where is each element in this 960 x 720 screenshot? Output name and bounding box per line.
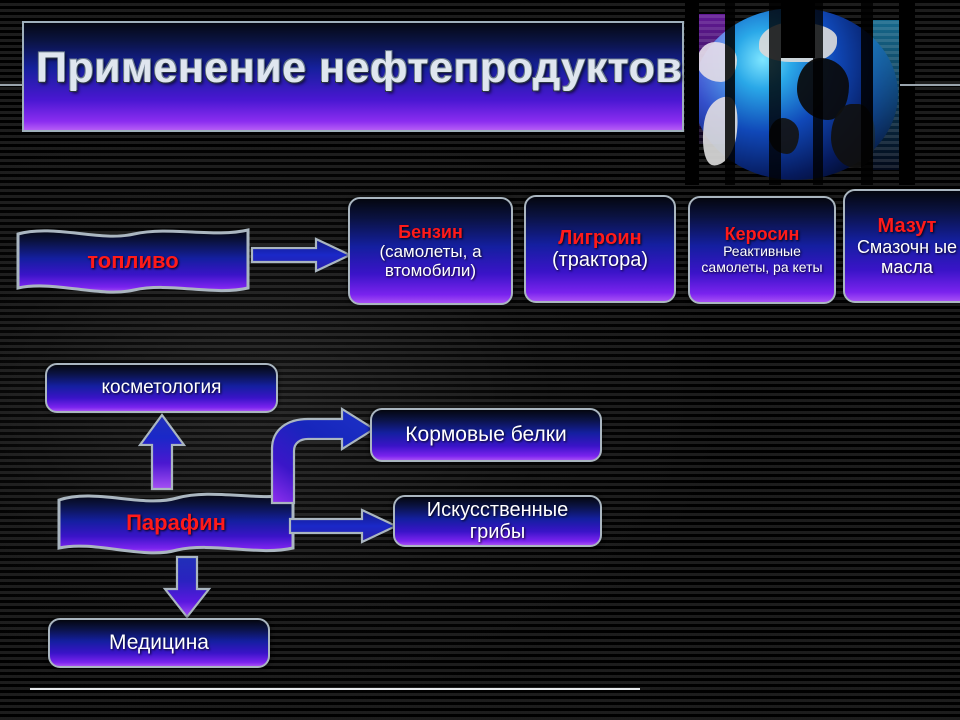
page-title: Применение нефтепродуктов: [36, 44, 676, 93]
node-kerosene[interactable]: Керосин Реактивные самолеты, ра кеты: [688, 196, 836, 304]
globe-slice-mask: [781, 0, 815, 58]
globe-slice: [685, 0, 699, 185]
node-artificial-mushrooms[interactable]: Искусственные грибы: [393, 495, 602, 547]
node-title: Керосин: [725, 224, 800, 244]
node-medicine[interactable]: Медицина: [48, 618, 270, 668]
globe-slice: [899, 0, 915, 185]
node-ligroin[interactable]: Лигроин (трактора): [524, 195, 676, 303]
node-feed-proteins[interactable]: Кормовые белки: [370, 408, 602, 462]
node-cosmetology[interactable]: косметология: [45, 363, 278, 413]
node-fuel-source[interactable]: топливо: [14, 222, 252, 300]
globe-slice: [813, 0, 823, 185]
globe-cyan-tint: [873, 20, 899, 170]
globe-violet-tint: [699, 14, 725, 144]
node-title: Искусственные грибы: [401, 499, 594, 544]
arrow-fuel-to-gasoline: [250, 237, 354, 273]
arrow-paraffin-to-feed-proteins: [266, 407, 378, 505]
globe-slice: [861, 0, 873, 185]
slide-canvas: Применение нефтепродуктов топливо: [0, 0, 960, 720]
node-title: Лигроин: [558, 227, 641, 249]
arrow-paraffin-to-mushrooms: [288, 508, 400, 544]
node-subtitle: (трактора): [552, 249, 648, 271]
node-paraffin-source[interactable]: Парафин: [55, 486, 297, 560]
arrow-paraffin-to-medicine: [160, 555, 214, 619]
node-gasoline[interactable]: Бензин (самолеты, а втомобили): [348, 197, 513, 305]
node-label: топливо: [87, 248, 178, 274]
bottom-rule: [30, 688, 640, 690]
node-label: Парафин: [126, 510, 226, 536]
node-subtitle: Реактивные самолеты, ра кеты: [696, 244, 828, 275]
title-rule-right: [900, 84, 960, 86]
globe-slice: [769, 0, 781, 185]
node-subtitle: Смазочн ые масла: [851, 237, 960, 277]
node-title: Бензин: [398, 222, 463, 242]
globe-image: [685, 0, 915, 185]
node-fuel-oil[interactable]: Мазут Смазочн ые масла: [843, 189, 960, 303]
node-title: Кормовые белки: [405, 423, 566, 447]
globe-slice: [725, 0, 735, 185]
node-title: Медицина: [109, 631, 209, 655]
node-title: косметология: [102, 377, 222, 398]
node-subtitle: (самолеты, а втомобили): [356, 242, 505, 280]
node-title: Мазут: [878, 215, 937, 237]
arrow-paraffin-to-cosmetology: [135, 413, 189, 491]
